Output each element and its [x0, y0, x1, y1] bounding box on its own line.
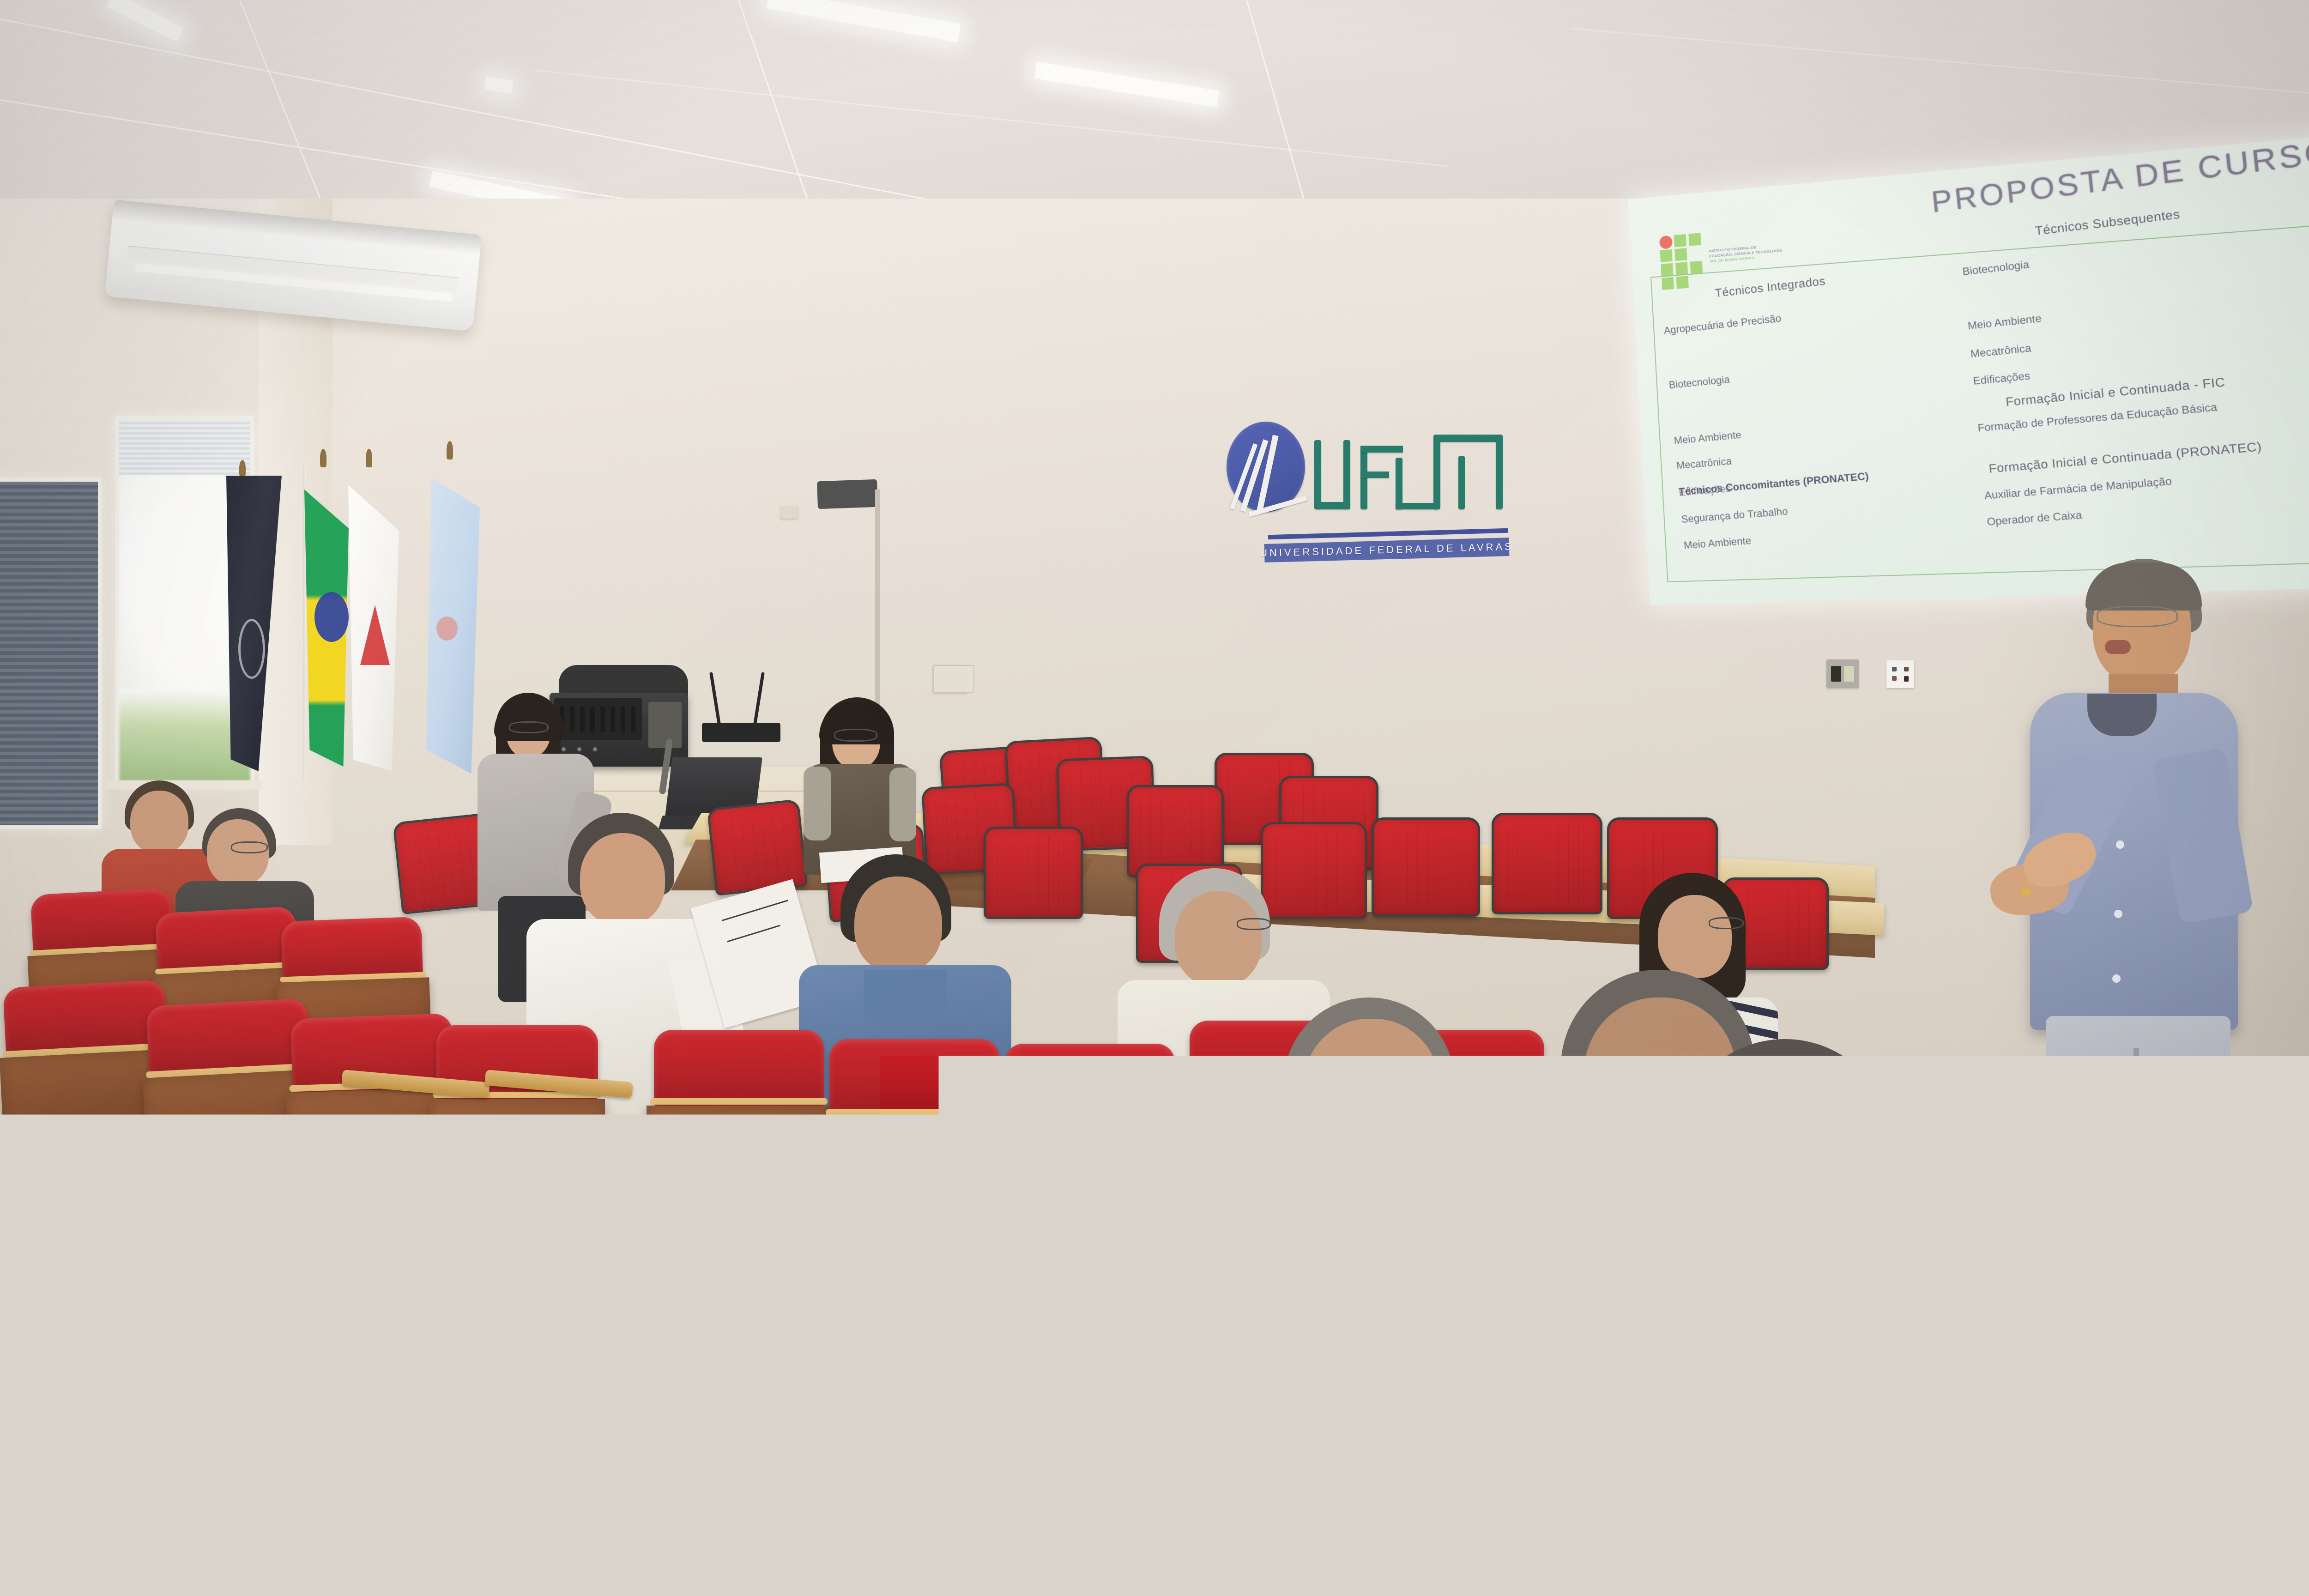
ufla-full-name: UNIVERSIDADE FEDERAL DE LAVRAS — [1260, 541, 1514, 559]
slide-column-subsequentes: Técnicos Subsequentes Biotecnologia Meio… — [1959, 184, 2309, 527]
office-chair[interactable] — [1492, 813, 1602, 914]
ceiling-speaker — [817, 479, 878, 509]
flag-finial — [239, 460, 246, 477]
flag-emblem — [436, 617, 458, 641]
course-item: Biotecnologia — [1668, 350, 1976, 390]
window-left-closed — [0, 478, 102, 829]
presenter-shoe-right — [2119, 1254, 2220, 1293]
auditorium-seat[interactable] — [997, 1044, 1182, 1228]
auditorium-seat[interactable] — [647, 1030, 831, 1210]
presentation-slide: PROPOSTA DE CURSOS INSTITUTO FEDERAL DE … — [1628, 127, 2309, 605]
ufla-wordmark — [1314, 432, 1508, 520]
trouser-crease — [2134, 1048, 2139, 1256]
auditorium-seat[interactable] — [429, 1025, 605, 1201]
office-chair[interactable] — [1372, 817, 1480, 917]
flag-finial — [366, 449, 372, 467]
column-subheading: Técnicos Concomitantes (PRONATEC) — [1678, 470, 1869, 497]
if-logo-text: INSTITUTO FEDERAL DE EDUCAÇÃO, CIÊNCIA E… — [1709, 243, 1784, 264]
ufla-accent-bar — [1268, 528, 1508, 540]
flag-finial — [320, 449, 326, 467]
slide-column-integrados: Técnicos Integrados Agropecuária de Prec… — [1660, 259, 1992, 550]
projection-screen: PROPOSTA DE CURSOS INSTITUTO FEDERAL DE … — [1628, 127, 2309, 614]
flag-globe — [314, 592, 349, 642]
if-circle-icon — [1659, 235, 1673, 249]
ufla-name-band: UNIVERSIDADE FEDERAL DE LAVRAS — [1264, 538, 1510, 562]
flag-emblem — [238, 619, 265, 679]
auditorium-photo: UNIVERSIDADE FEDERAL DE LAVRAS PROPOSTA … — [0, 0, 2309, 1596]
course-item: Agropecuária de Precisão — [1663, 293, 1970, 336]
wall-power-outlet[interactable] — [1886, 660, 1914, 688]
presenter-mouth — [2105, 640, 2131, 654]
wall-av-plate[interactable] — [1826, 659, 1859, 688]
speaker-conduit — [875, 490, 880, 711]
presenter-glasses — [2097, 606, 2178, 627]
wall-sensor — [780, 506, 798, 519]
ufla-wall-logo: UNIVERSIDADE FEDERAL DE LAVRAS — [1224, 418, 1519, 570]
auditorium-seat[interactable] — [822, 1039, 1007, 1224]
presenter — [1995, 559, 2281, 1284]
flag-finial — [447, 441, 453, 459]
course-item: Biotecnologia — [1962, 218, 2309, 277]
presenter-ring — [2021, 889, 2031, 895]
auditorium-seat[interactable] — [134, 1460, 383, 1596]
presenter-collar — [2087, 694, 2157, 736]
presenter-shoe-left — [2031, 1245, 2128, 1282]
projector-control-box[interactable] — [933, 665, 974, 693]
wireless-router — [702, 723, 780, 742]
man-dark-foreground — [1584, 1039, 2000, 1593]
auditorium-seat-back-panel[interactable] — [319, 1201, 1021, 1589]
